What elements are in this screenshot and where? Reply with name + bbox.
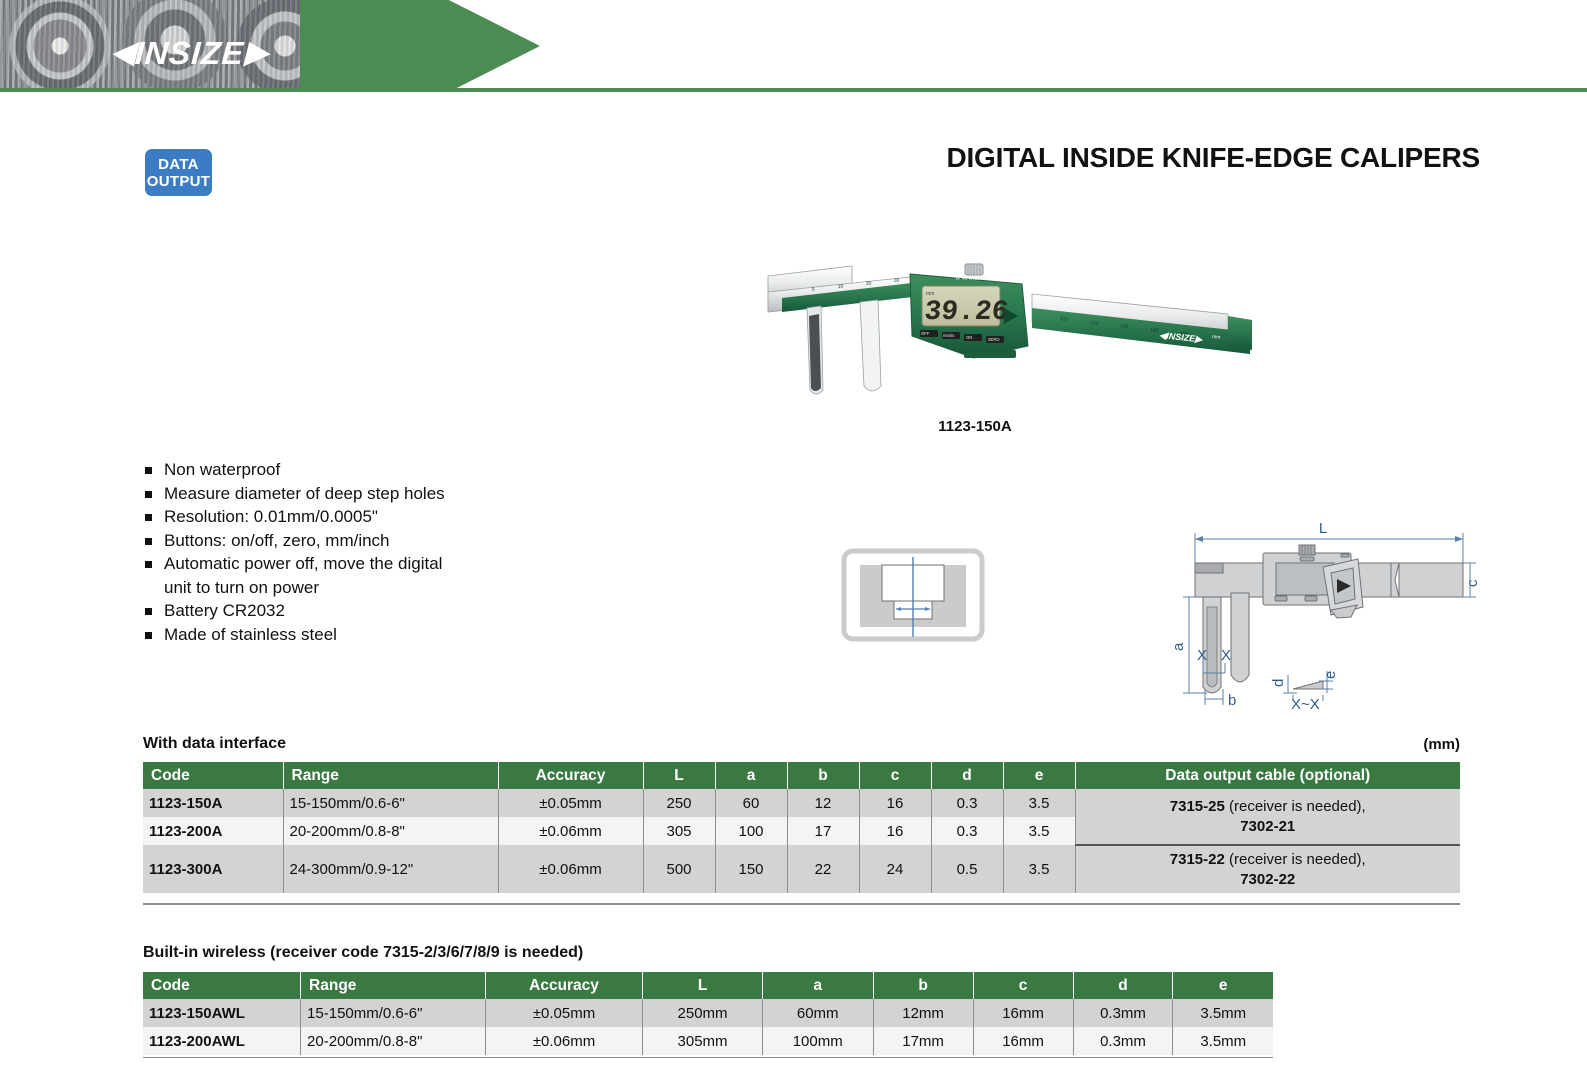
logo-left-arrow-icon: ◀ xyxy=(111,38,135,68)
cell-a: 150 xyxy=(715,845,787,893)
cell-d: 0.3mm xyxy=(1073,1027,1173,1055)
section-marker-x-right: X xyxy=(1221,647,1231,664)
feature-item: Measure diameter of deep step holes xyxy=(142,482,562,506)
dim-label-c: c xyxy=(1464,579,1481,587)
th-a: a xyxy=(762,972,873,999)
cell-b: 12mm xyxy=(873,999,973,1027)
table-row: 1123-150AWL 15-150mm/0.6-6" ±0.05mm 250m… xyxy=(143,999,1273,1027)
cell-e: 3.5mm xyxy=(1173,999,1273,1027)
th-data-output-cable: Data output cable (optional) xyxy=(1075,762,1460,789)
cell-code: 1123-300A xyxy=(143,845,283,893)
svg-text:120: 120 xyxy=(1090,320,1099,327)
th-accuracy: Accuracy xyxy=(485,972,643,999)
logo-wordmark: INSIZE xyxy=(134,35,246,72)
svg-text:20: 20 xyxy=(866,280,872,287)
cell-d: 0.3mm xyxy=(1073,999,1173,1027)
svg-text:140: 140 xyxy=(1150,327,1159,334)
svg-text:130: 130 xyxy=(1120,323,1129,330)
svg-text:30: 30 xyxy=(894,277,900,284)
svg-text:mm/in: mm/in xyxy=(943,333,955,338)
feature-item: Resolution: 0.01mm/0.0005" xyxy=(142,505,562,529)
cell-b: 17 xyxy=(787,817,859,845)
cell-a: 60mm xyxy=(762,999,873,1027)
th-accuracy: Accuracy xyxy=(498,762,643,789)
svg-text:10: 10 xyxy=(838,283,844,290)
header-divider-rule xyxy=(0,88,1587,92)
svg-text:39.26: 39.26 xyxy=(923,297,1010,328)
table-row: 1123-150A 15-150mm/0.6-6" ±0.05mm 250 60… xyxy=(143,789,1460,817)
svg-text:110: 110 xyxy=(1060,316,1069,323)
dim-label-e: e xyxy=(1322,671,1339,679)
dim-label-b: b xyxy=(1228,692,1236,709)
svg-text:mm: mm xyxy=(926,291,934,297)
header-green-chevron xyxy=(300,0,540,92)
cell-L: 305mm xyxy=(643,1027,763,1055)
cell-L: 250mm xyxy=(643,999,763,1027)
th-c: c xyxy=(973,972,1073,999)
th-d: d xyxy=(1073,972,1173,999)
feature-item: Buttons: on/off, zero, mm/inch xyxy=(142,529,562,553)
cell-accuracy: ±0.05mm xyxy=(498,789,643,817)
feature-item: Battery CR2032 xyxy=(142,599,562,623)
cell-range: 15-150mm/0.6-6" xyxy=(283,789,498,817)
cell-d: 0.3 xyxy=(931,817,1003,845)
cable-code-primary: 7315-22 xyxy=(1170,851,1225,868)
th-L: L xyxy=(643,972,763,999)
table2-header-row: Code Range Accuracy L a b c d e xyxy=(143,972,1273,999)
svg-text:OFF: OFF xyxy=(921,331,930,336)
data-output-badge: DATA OUTPUT xyxy=(145,149,212,196)
dim-label-d: d xyxy=(1270,679,1287,687)
badge-line-1: DATA xyxy=(158,156,199,173)
cell-a: 100 xyxy=(715,817,787,845)
cell-code: 1123-200AWL xyxy=(143,1027,301,1055)
cell-c: 16mm xyxy=(973,999,1073,1027)
svg-text:mm: mm xyxy=(1212,334,1221,341)
cell-L: 500 xyxy=(643,845,715,893)
feature-item: Non waterproof xyxy=(142,458,562,482)
feature-item: Automatic power off, move the digital xyxy=(142,552,562,576)
feature-item-continuation: unit to turn on power xyxy=(142,576,562,600)
th-range: Range xyxy=(301,972,486,999)
th-code: Code xyxy=(143,762,283,789)
th-e: e xyxy=(1003,762,1075,789)
cell-c: 16 xyxy=(859,817,931,845)
cable-note: (receiver is needed), xyxy=(1225,798,1366,815)
cell-e: 3.5 xyxy=(1003,817,1075,845)
cell-accuracy: ±0.06mm xyxy=(498,845,643,893)
spec-table-with-data-interface: Code Range Accuracy L a b c d e Data out… xyxy=(143,762,1460,893)
cell-c: 24 xyxy=(859,845,931,893)
cell-accuracy: ±0.05mm xyxy=(485,999,643,1027)
th-b: b xyxy=(787,762,859,789)
table-row: 1123-200AWL 20-200mm/0.8-8" ±0.06mm 305m… xyxy=(143,1027,1273,1055)
cell-data-output-cable: 7315-22 (receiver is needed), 7302-22 xyxy=(1075,845,1460,893)
insize-logo: ◀INSIZE▶ xyxy=(95,32,285,74)
cable-code-secondary: 7302-21 xyxy=(1082,817,1455,837)
cell-code: 1123-150AWL xyxy=(143,999,301,1027)
section-label-xx: X~X xyxy=(1291,696,1320,710)
cable-code-secondary: 7302-22 xyxy=(1082,870,1455,890)
cell-L: 250 xyxy=(643,789,715,817)
th-L: L xyxy=(643,762,715,789)
cell-b: 12 xyxy=(787,789,859,817)
unit-note: (mm) xyxy=(1423,736,1460,753)
logo-right-arrow-icon: ▶ xyxy=(245,38,269,68)
cell-accuracy: ±0.06mm xyxy=(498,817,643,845)
table1-header-row: Code Range Accuracy L a b c d e Data out… xyxy=(143,762,1460,789)
table2-bottom-border xyxy=(143,1057,1273,1058)
cell-a: 100mm xyxy=(762,1027,873,1055)
cell-b: 22 xyxy=(787,845,859,893)
feature-list: Non waterproof Measure diameter of deep … xyxy=(142,458,562,646)
page-title: DIGITAL INSIDE KNIFE-EDGE CALIPERS xyxy=(860,142,1480,174)
th-e: e xyxy=(1173,972,1273,999)
svg-text:ZERO: ZERO xyxy=(988,337,1000,342)
cell-e: 3.5 xyxy=(1003,789,1075,817)
product-caption: 1123-150A xyxy=(860,418,1090,435)
th-c: c xyxy=(859,762,931,789)
page-header-banner: ◀INSIZE▶ xyxy=(0,0,1587,92)
cell-range: 24-300mm/0.9-12" xyxy=(283,845,498,893)
cell-c: 16 xyxy=(859,789,931,817)
th-b: b xyxy=(873,972,973,999)
th-d: d xyxy=(931,762,1003,789)
cell-d: 0.5 xyxy=(931,845,1003,893)
spec-table-built-in-wireless: Code Range Accuracy L a b c d e 1123-150… xyxy=(143,972,1273,1055)
cell-code: 1123-150A xyxy=(143,789,283,817)
th-range: Range xyxy=(283,762,498,789)
cell-c: 16mm xyxy=(973,1027,1073,1055)
dim-label-a: a xyxy=(1170,642,1187,651)
th-code: Code xyxy=(143,972,301,999)
cell-data-output-cable: 7315-25 (receiver is needed), 7302-21 xyxy=(1075,789,1460,845)
badge-line-2: OUTPUT xyxy=(147,173,210,190)
cell-a: 60 xyxy=(715,789,787,817)
section-marker-x-left: X xyxy=(1197,647,1207,664)
cell-range: 15-150mm/0.6-6" xyxy=(301,999,486,1027)
table1-title: With data interface xyxy=(143,735,286,753)
feature-item: Made of stainless steel xyxy=(142,623,562,647)
table-row: 1123-300A 24-300mm/0.9-12" ±0.06mm 500 1… xyxy=(143,845,1460,893)
cell-d: 0.3 xyxy=(931,789,1003,817)
cell-range: 20-200mm/0.8-8" xyxy=(301,1027,486,1055)
product-photo: 5 10 20 30 110 120 130 140 150 mm ◀INSIZ… xyxy=(760,250,1260,410)
dim-label-L: L xyxy=(1319,520,1327,537)
cable-code-primary: 7315-25 xyxy=(1170,798,1225,815)
table2-title: Built-in wireless (receiver code 7315-2/… xyxy=(143,944,583,962)
th-a: a xyxy=(715,762,787,789)
cable-note: (receiver is needed), xyxy=(1225,851,1366,868)
cell-b: 17mm xyxy=(873,1027,973,1055)
cell-accuracy: ±0.06mm xyxy=(485,1027,643,1055)
svg-text:IP 40 DIGITAL: IP 40 DIGITAL xyxy=(956,276,988,282)
table1-bottom-border xyxy=(143,903,1460,905)
cell-e: 3.5mm xyxy=(1173,1027,1273,1055)
cell-range: 20-200mm/0.8-8" xyxy=(283,817,498,845)
svg-text:ON: ON xyxy=(966,335,972,340)
cell-L: 305 xyxy=(643,817,715,845)
application-schematic xyxy=(838,545,988,645)
cell-e: 3.5 xyxy=(1003,845,1075,893)
cell-code: 1123-200A xyxy=(143,817,283,845)
dimension-diagram: L c xyxy=(1145,475,1485,710)
